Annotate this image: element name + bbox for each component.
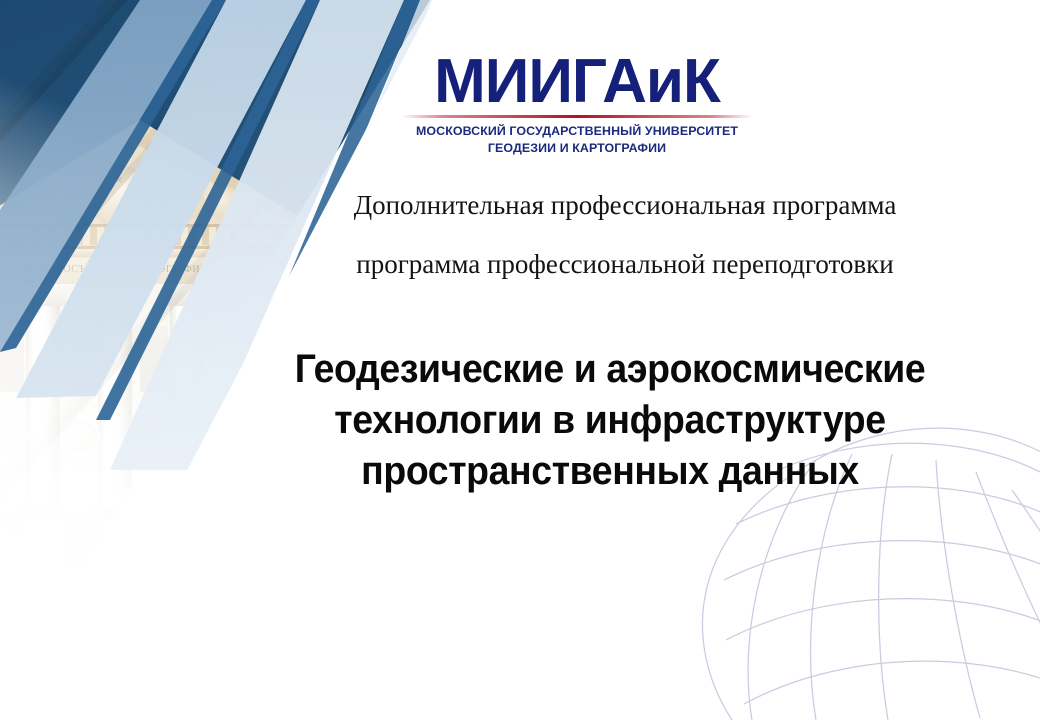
logo-subtitle-line-1: МОСКОВСКИЙ ГОСУДАРСТВЕННЫЙ УНИВЕРСИТЕТ [394,123,760,140]
logo-subtitle-line-2: ГЕОДЕЗИИ И КАРТОГРАФИИ [394,140,760,157]
program-line-1: Дополнительная профессиональная программ… [230,192,1020,219]
window [226,512,264,572]
title-line-2: технологии в инфраструктуре [236,395,984,446]
window [146,512,184,572]
title-line-1: Геодезические и аэрокосмические [236,344,984,395]
miigaik-logo: МИИГАиК МОСКОВСКИЙ ГОСУДАРСТВЕННЫЙ УНИВЕ… [394,50,760,157]
program-subtitle-block: Дополнительная профессиональная программ… [230,192,1020,278]
presentation-slide: ГЕОДЕЗИИ АЭРОФОТОСЪЕМКИ И КАРТОГРАФИИ [0,0,1040,720]
logo-wordmark: МИИГАиК [394,50,760,113]
page-title: Геодезические и аэрокосмические технолог… [210,344,1010,498]
title-line-3: пространственных данных [236,446,984,497]
program-line-2: программа профессиональной переподготовк… [230,251,1020,278]
